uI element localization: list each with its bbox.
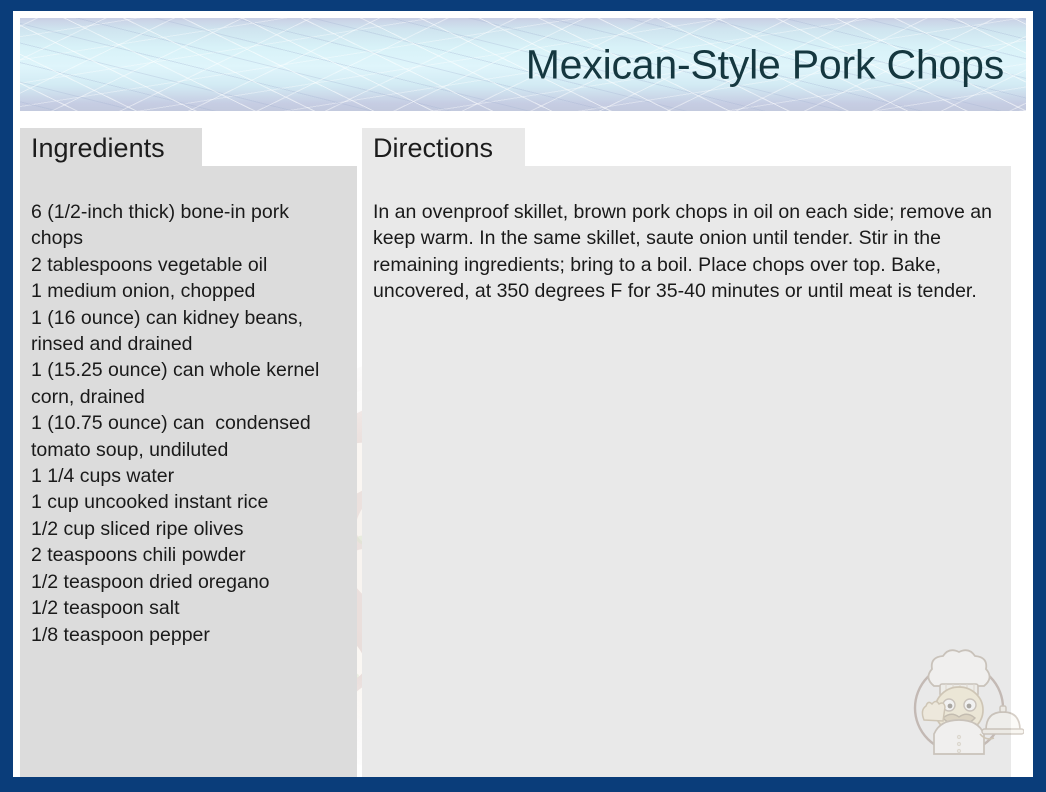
ingredient-line: 1 (10.75 ounce) can condensed (31, 410, 361, 436)
directions-text: In an ovenproof skillet, brown pork chop… (373, 199, 1003, 305)
ingredient-line: 1 1/4 cups water (31, 463, 361, 489)
ingredient-line: 6 (1/2-inch thick) bone-in pork (31, 199, 361, 225)
tab-ingredients-label: Ingredients (31, 135, 165, 162)
recipe-slide: Mexican-Style Pork Chops (0, 0, 1046, 792)
ingredient-line: 1 (15.25 ounce) can whole kernel (31, 357, 361, 383)
ingredient-line: 1/2 teaspoon salt (31, 595, 361, 621)
ingredient-line: 2 tablespoons vegetable oil (31, 252, 361, 278)
tab-ingredients[interactable]: Ingredients (20, 128, 202, 168)
ingredient-line: 1/2 cup sliced ripe olives (31, 516, 361, 542)
ingredient-line: 1/8 teaspoon pepper (31, 622, 361, 648)
ingredient-line: chops (31, 225, 361, 251)
ingredient-line: rinsed and drained (31, 331, 361, 357)
slide-canvas: Mexican-Style Pork Chops (13, 11, 1033, 777)
ingredient-line: 1 (16 ounce) can kidney beans, (31, 305, 361, 331)
tab-directions-label: Directions (373, 135, 493, 162)
tab-directions[interactable]: Directions (362, 128, 525, 168)
ingredient-line: 1 medium onion, chopped (31, 278, 361, 304)
title-banner: Mexican-Style Pork Chops (20, 18, 1026, 111)
ingredient-line: 2 teaspoons chili powder (31, 542, 361, 568)
ingredient-line: 1 cup uncooked instant rice (31, 489, 361, 515)
ingredient-line: 1/2 teaspoon dried oregano (31, 569, 361, 595)
page-title: Mexican-Style Pork Chops (526, 43, 1004, 86)
ingredient-line: tomato soup, undiluted (31, 437, 361, 463)
directions-body: In an ovenproof skillet, brown pork chop… (373, 199, 1003, 305)
ingredient-line: corn, drained (31, 384, 361, 410)
ingredients-list: 6 (1/2-inch thick) bone-in pork chops 2 … (31, 199, 361, 648)
